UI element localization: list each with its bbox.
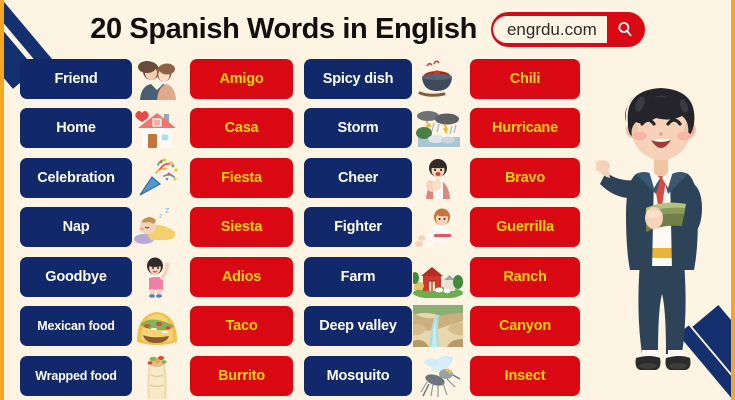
- sleeping-child-icon: z z: [132, 204, 182, 250]
- spanish-word-pill-left[interactable]: Burrito: [190, 356, 293, 396]
- meaning-pill-right[interactable]: Farm: [304, 257, 412, 297]
- spanish-word-label: Bravo: [505, 171, 545, 186]
- poster-canvas: 20 Spanish Words in English engrdu.com F…: [0, 0, 735, 400]
- smiling-boy-mascot-illustration: [596, 62, 726, 394]
- meaning-label: Wrapped food: [35, 370, 116, 383]
- meaning-label: Celebration: [37, 171, 115, 186]
- meaning-pill-left[interactable]: Friend: [20, 59, 132, 99]
- spanish-word-label: Canyon: [499, 319, 551, 334]
- site-badge-label: engrdu.com: [493, 16, 607, 43]
- meaning-label: Fighter: [334, 220, 382, 235]
- svg-text:z: z: [165, 206, 170, 215]
- site-badge[interactable]: engrdu.com: [491, 12, 645, 47]
- spanish-word-pill-left[interactable]: Fiesta: [190, 158, 293, 198]
- meaning-label: Farm: [341, 270, 376, 285]
- spanish-word-pill-right[interactable]: Hurricane: [470, 108, 580, 148]
- meaning-pill-left[interactable]: Wrapped food: [20, 356, 132, 396]
- storm-cloud-rain-icon: [412, 105, 464, 151]
- spanish-word-label: Siesta: [221, 220, 263, 235]
- meaning-label: Goodbye: [45, 270, 106, 285]
- meaning-pill-left[interactable]: Goodbye: [20, 257, 132, 297]
- clapping-woman-icon: [412, 155, 464, 201]
- spanish-word-label: Ranch: [503, 270, 546, 285]
- karate-fighter-icon: [412, 204, 464, 250]
- search-icon[interactable]: [607, 16, 643, 43]
- mosquito-icon: [412, 353, 464, 399]
- spanish-word-label: Hurricane: [492, 121, 558, 136]
- spanish-word-label: Casa: [225, 121, 259, 136]
- spanish-word-pill-left[interactable]: Adios: [190, 257, 293, 297]
- svg-text:z: z: [159, 213, 163, 220]
- meaning-pill-left[interactable]: Home: [20, 108, 132, 148]
- spanish-word-label: Guerrilla: [496, 220, 554, 235]
- spanish-word-label: Chili: [510, 72, 540, 87]
- spanish-word-pill-left[interactable]: Taco: [190, 306, 293, 346]
- spanish-word-pill-left[interactable]: Siesta: [190, 207, 293, 247]
- spanish-word-pill-right[interactable]: Chili: [470, 59, 580, 99]
- spanish-word-label: Fiesta: [221, 171, 262, 186]
- meaning-label: Storm: [338, 121, 379, 136]
- meaning-pill-right[interactable]: Mosquito: [304, 356, 412, 396]
- spanish-word-label: Amigo: [219, 72, 263, 87]
- burrito-icon: [132, 353, 182, 399]
- spanish-word-pill-right[interactable]: Insect: [470, 356, 580, 396]
- meaning-label: Spicy dish: [323, 72, 394, 87]
- meaning-label: Home: [56, 121, 96, 136]
- meaning-pill-left[interactable]: Mexican food: [20, 306, 132, 346]
- meaning-pill-right[interactable]: Storm: [304, 108, 412, 148]
- meaning-pill-left[interactable]: Nap: [20, 207, 132, 247]
- spanish-word-pill-left[interactable]: Casa: [190, 108, 293, 148]
- spanish-word-label: Adios: [222, 270, 261, 285]
- spanish-word-pill-right[interactable]: Canyon: [470, 306, 580, 346]
- meaning-label: Nap: [63, 220, 90, 235]
- meaning-pill-right[interactable]: Fighter: [304, 207, 412, 247]
- spanish-word-label: Taco: [226, 319, 258, 334]
- meaning-pill-right[interactable]: Cheer: [304, 158, 412, 198]
- meaning-label: Cheer: [338, 171, 378, 186]
- party-popper-icon: [132, 155, 182, 201]
- meaning-label: Mexican food: [37, 320, 114, 333]
- page-title: 20 Spanish Words in English: [90, 13, 477, 46]
- meaning-pill-right[interactable]: Spicy dish: [304, 59, 412, 99]
- house-with-heart-icon: [132, 105, 182, 151]
- two-friends-hugging-icon: [132, 56, 182, 102]
- spanish-word-pill-left[interactable]: Amigo: [190, 59, 293, 99]
- spanish-word-label: Burrito: [218, 369, 265, 384]
- spanish-word-pill-right[interactable]: Bravo: [470, 158, 580, 198]
- spanish-word-pill-right[interactable]: Guerrilla: [470, 207, 580, 247]
- barn-farm-icon: [412, 254, 464, 300]
- meaning-label: Friend: [54, 72, 97, 87]
- canyon-river-icon: [412, 303, 464, 349]
- spanish-word-pill-right[interactable]: Ranch: [470, 257, 580, 297]
- meaning-label: Mosquito: [327, 369, 390, 384]
- bowl-of-chili-icon: [412, 56, 464, 102]
- meaning-pill-left[interactable]: Celebration: [20, 158, 132, 198]
- meaning-label: Deep valley: [319, 319, 397, 334]
- waving-girl-icon: [132, 254, 182, 300]
- taco-icon: [132, 303, 182, 349]
- meaning-pill-right[interactable]: Deep valley: [304, 306, 412, 346]
- spanish-word-label: Insect: [505, 369, 546, 384]
- poster-header: 20 Spanish Words in English engrdu.com: [4, 6, 731, 52]
